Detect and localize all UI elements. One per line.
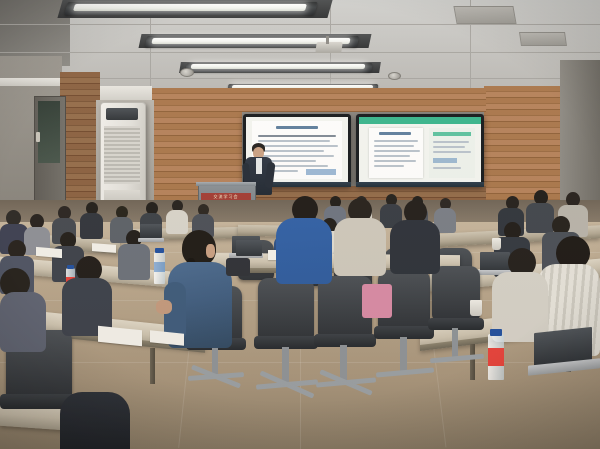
attendee-denim-center-hand bbox=[156, 300, 172, 314]
attendee-torso bbox=[118, 244, 150, 280]
right-display-panel[interactable] bbox=[356, 114, 484, 186]
laptop[interactable] bbox=[140, 224, 162, 238]
chair-post bbox=[282, 347, 289, 383]
laptop[interactable] bbox=[236, 240, 262, 256]
handbag[interactable] bbox=[362, 284, 392, 318]
ceiling-seam bbox=[0, 52, 600, 53]
chair-foreground[interactable] bbox=[258, 278, 314, 340]
ac-display-panel bbox=[106, 108, 138, 120]
handout bbox=[92, 243, 116, 253]
bottle-cap bbox=[155, 248, 164, 253]
ceiling-projector bbox=[315, 42, 343, 53]
table-leg bbox=[150, 348, 155, 384]
wall-trim bbox=[0, 78, 62, 86]
chair-post bbox=[452, 328, 458, 358]
attendee-torso bbox=[390, 220, 440, 274]
laptop[interactable] bbox=[480, 252, 510, 271]
door-handle[interactable] bbox=[36, 132, 40, 142]
light-bar-1-glow bbox=[73, 4, 307, 11]
ceiling-seam bbox=[0, 24, 600, 25]
wall-right-return bbox=[560, 60, 600, 210]
bottle-label bbox=[154, 262, 165, 272]
photo-scene: 交流学习会 bbox=[0, 0, 600, 449]
attendee-torso bbox=[0, 292, 46, 352]
attendee-foreground-bottom bbox=[60, 392, 130, 449]
air-vent bbox=[519, 32, 567, 46]
attendee-blue-left-torso bbox=[276, 218, 332, 284]
paper-cup[interactable] bbox=[492, 238, 501, 250]
attendee-torso bbox=[80, 213, 103, 239]
lectern-top bbox=[196, 182, 256, 186]
bottle-cap bbox=[490, 329, 502, 336]
ac-grill bbox=[104, 126, 140, 184]
attendee-torso bbox=[526, 203, 554, 233]
presenter-shirt bbox=[256, 158, 262, 174]
light-bar-3-glow bbox=[191, 64, 366, 69]
table-leg bbox=[470, 344, 475, 380]
attendee-white-right-torso bbox=[334, 218, 386, 276]
attendee-torso bbox=[166, 210, 188, 234]
attendee-denim-center-face bbox=[206, 244, 215, 258]
wood-wall-above-screens bbox=[242, 88, 486, 112]
paper-cup[interactable] bbox=[470, 300, 482, 316]
bottle-cap bbox=[67, 265, 74, 269]
ceiling-speaker bbox=[180, 68, 194, 77]
right-screen-bottom-bar bbox=[356, 182, 484, 187]
door-glass bbox=[38, 101, 60, 163]
laptop-base bbox=[138, 238, 164, 242]
bottle-label bbox=[488, 348, 504, 366]
chair-post bbox=[400, 337, 407, 371]
projector-mount bbox=[326, 36, 329, 44]
backpack[interactable] bbox=[226, 258, 250, 276]
wood-wall-left bbox=[60, 72, 100, 204]
ceiling-speaker bbox=[388, 72, 401, 80]
chair-post bbox=[340, 345, 347, 381]
air-vent bbox=[453, 6, 516, 24]
